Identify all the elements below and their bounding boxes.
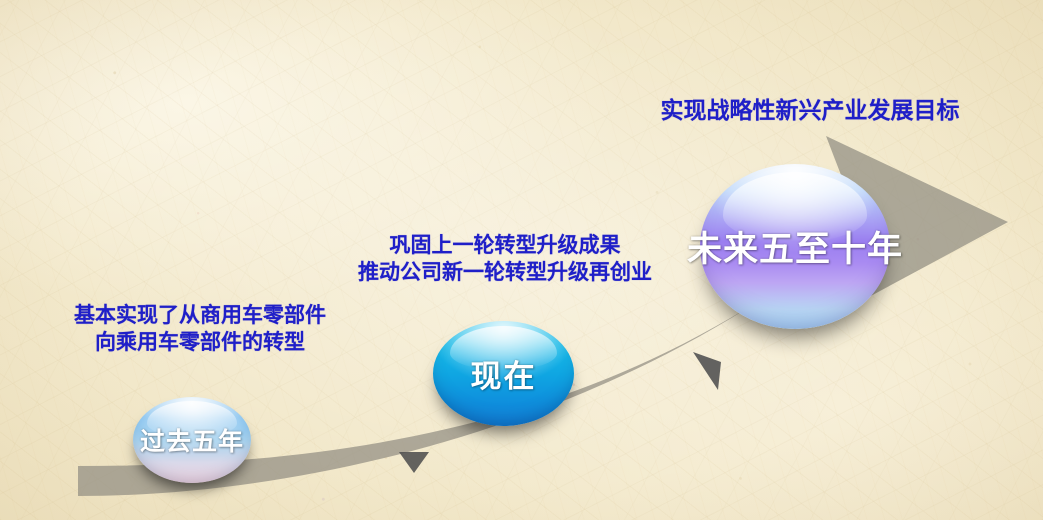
- left-triangle-marker: [693, 352, 721, 390]
- stage-sphere-now[interactable]: 现在: [433, 321, 574, 426]
- caption-future: 实现战略性新兴产业发展目标: [630, 97, 990, 126]
- stage-sphere-now-label: 现在: [471, 351, 537, 396]
- stage-sphere-future[interactable]: 未来五至十年: [700, 164, 890, 329]
- caption-now: 巩固上一轮转型升级成果 推动公司新一轮转型升级再创业: [325, 232, 685, 286]
- caption-past: 基本实现了从商用车零部件 向乘用车零部件的转型: [40, 302, 360, 356]
- slide-canvas: 基本实现了从商用车零部件 向乘用车零部件的转型 巩固上一轮转型升级成果 推动公司…: [0, 0, 1043, 520]
- down-triangle-marker: [399, 452, 429, 473]
- stage-sphere-past[interactable]: 过去五年: [133, 397, 251, 483]
- stage-sphere-future-label: 未来五至十年: [687, 221, 903, 272]
- stage-sphere-past-label: 过去五年: [140, 422, 244, 458]
